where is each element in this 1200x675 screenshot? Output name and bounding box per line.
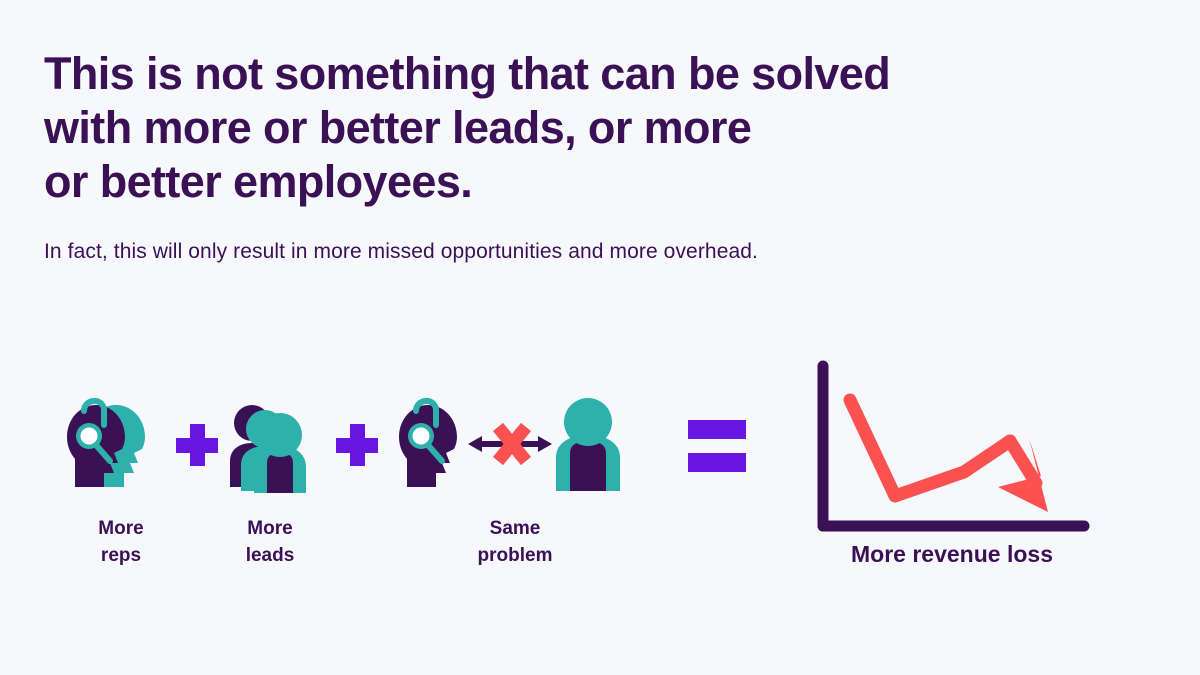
headline-line-3: or better employees. — [44, 155, 1004, 209]
headline-line-1: This is not something that can be solved — [44, 47, 1004, 101]
agent-blocked-from-customer-icon — [392, 395, 638, 505]
headline-line-2: with more or better leads, or more — [44, 101, 1004, 155]
caption-same-problem: Same problem — [392, 515, 638, 569]
equals-sign-icon — [688, 416, 746, 474]
chart-caption: More revenue loss — [812, 541, 1092, 568]
page-title: This is not something that can be solved… — [44, 47, 1004, 209]
chart-canvas — [812, 360, 1092, 535]
group-of-people-icon — [212, 395, 328, 505]
plus-sign-2-icon — [336, 424, 378, 466]
equation-term-more-leads: More leads — [212, 395, 328, 569]
headset-agent-duplicated-icon — [58, 395, 184, 505]
revenue-loss-chart: More revenue loss — [812, 360, 1092, 568]
chart-series-line — [850, 400, 1010, 496]
equation-term-more-reps: More reps — [58, 395, 184, 569]
caption-more-reps: More reps — [58, 515, 184, 569]
caption-more-leads: More leads — [212, 515, 328, 569]
chart-arrow-stem — [1010, 441, 1036, 483]
page-subtitle: In fact, this will only result in more m… — [44, 240, 758, 264]
equation-term-same-problem: Same problem — [392, 395, 638, 569]
